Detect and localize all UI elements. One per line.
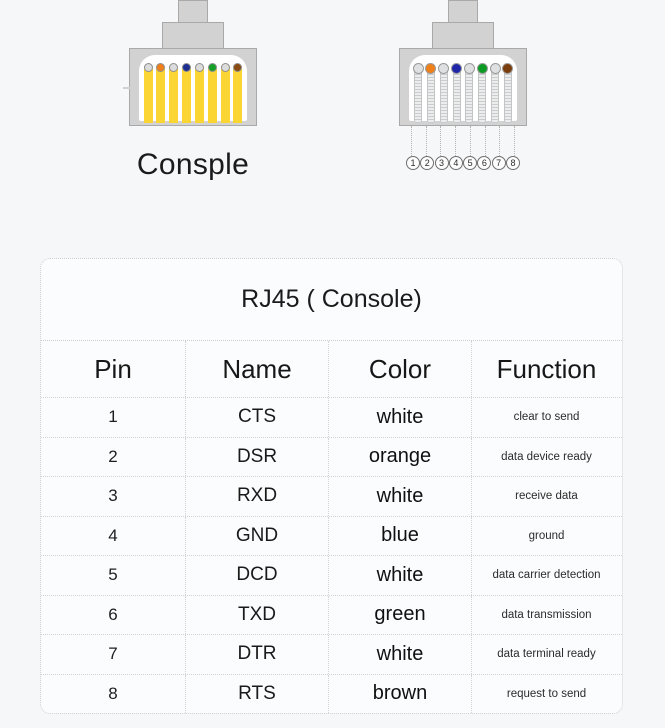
table-row: 3RXDwhitereceive data <box>41 477 622 517</box>
pin-number-badge-8: 8 <box>506 156 520 170</box>
cell-color: white <box>329 398 472 437</box>
plug-contact-pin-2 <box>426 63 436 123</box>
pin-blade <box>440 71 448 123</box>
cell-function: data terminal ready <box>472 635 621 674</box>
plug-contact-pin-4 <box>182 63 192 123</box>
column-header-pin: Pin <box>41 341 186 397</box>
pin-color-dot-blue <box>182 63 191 72</box>
rj45-pinout-table: RJ45 ( Console) Pin Name Color Function … <box>40 258 623 714</box>
connector-console-plug-gold: Consple <box>118 0 268 182</box>
cell-pin: 6 <box>41 596 186 635</box>
pin-color-dot-white <box>221 63 230 72</box>
pin-leader-line-4 <box>455 126 456 156</box>
plug-contact-pin-5 <box>194 63 204 123</box>
table-row: 5DCDwhitedata carrier detection <box>41 556 622 596</box>
cell-color: blue <box>329 517 472 556</box>
plug-contact-pin-8 <box>233 63 243 123</box>
plug-contact-pin-4 <box>452 63 462 123</box>
cell-color: white <box>329 635 472 674</box>
cell-function: ground <box>472 517 621 556</box>
pin-blade <box>169 69 178 123</box>
table-row: 2DSRorangedata device ready <box>41 438 622 478</box>
pin-blade <box>465 71 473 123</box>
cell-name: DSR <box>186 438 329 477</box>
cell-name: RTS <box>186 675 329 714</box>
table-body: 1CTSwhiteclear to send2DSRorangedata dev… <box>41 398 622 713</box>
plug-contacts-row <box>143 63 243 123</box>
pin-blade <box>182 69 191 123</box>
cell-name: GND <box>186 517 329 556</box>
plug-side-stub-icon <box>123 87 132 89</box>
plug-body <box>399 48 527 126</box>
plug-contact-pin-7 <box>220 63 230 123</box>
table-row: 8RTSbrownrequest to send <box>41 675 622 714</box>
plug-contact-pin-1 <box>413 63 423 123</box>
cell-name: RXD <box>186 477 329 516</box>
pin-color-dot-white <box>464 63 475 74</box>
cell-function: request to send <box>472 675 621 714</box>
plug-contact-pin-5 <box>464 63 474 123</box>
pin-number-badge-3: 3 <box>435 156 449 170</box>
connector-caption: Consple <box>118 148 268 182</box>
plug-contact-pin-6 <box>207 63 217 123</box>
pin-blade <box>156 69 165 123</box>
pin-color-dot-blue <box>451 63 462 74</box>
pin-leader-line-3 <box>440 126 441 156</box>
table-title: RJ45 ( Console) <box>41 259 622 341</box>
table-row: 4GNDblueground <box>41 517 622 557</box>
pin-number-badge-5: 5 <box>463 156 477 170</box>
cell-function: data carrier detection <box>472 556 621 595</box>
pin-blade <box>144 69 153 123</box>
pin-leader-lines <box>399 126 527 156</box>
cell-pin: 5 <box>41 556 186 595</box>
pin-number-badge-2: 2 <box>420 156 434 170</box>
cell-function: receive data <box>472 477 621 516</box>
pin-color-dot-green <box>477 63 488 74</box>
pin-blade <box>233 69 242 123</box>
table-header-row: Pin Name Color Function <box>41 341 622 398</box>
pin-blade <box>427 71 435 123</box>
pin-color-dot-white <box>490 63 501 74</box>
cell-name: CTS <box>186 398 329 437</box>
cell-pin: 4 <box>41 517 186 556</box>
plug-latch-base-icon <box>432 22 494 48</box>
pin-blade <box>453 71 461 123</box>
plug-contact-pin-1 <box>143 63 153 123</box>
cell-color: orange <box>329 438 472 477</box>
pin-blade <box>195 69 204 123</box>
cell-name: TXD <box>186 596 329 635</box>
plug-latch-tab-icon <box>178 0 208 22</box>
pin-color-dot-white <box>144 63 153 72</box>
plug-latch-base-icon <box>162 22 224 48</box>
cell-color: green <box>329 596 472 635</box>
pin-number-badge-6: 6 <box>477 156 491 170</box>
connector-illustrations: Consple 12345678 <box>0 0 665 235</box>
table-row: 6TXDgreendata transmission <box>41 596 622 636</box>
cell-pin: 7 <box>41 635 186 674</box>
pin-color-dot-green <box>208 63 217 72</box>
pin-leader-line-7 <box>499 126 500 156</box>
table-row: 7DTRwhitedata terminal ready <box>41 635 622 675</box>
cell-name: DTR <box>186 635 329 674</box>
pin-blade <box>414 71 422 123</box>
plug-latch-tab-icon <box>448 0 478 22</box>
pin-leader-line-2 <box>426 126 427 156</box>
cell-pin: 2 <box>41 438 186 477</box>
cell-color: white <box>329 477 472 516</box>
pin-leader-line-1 <box>411 126 412 156</box>
cell-color: white <box>329 556 472 595</box>
connector-console-plug-numbered: 12345678 <box>388 0 538 170</box>
table-row: 1CTSwhiteclear to send <box>41 398 622 438</box>
pin-leader-line-6 <box>485 126 486 156</box>
plug-contact-pin-2 <box>156 63 166 123</box>
pin-leader-line-8 <box>514 126 515 156</box>
cell-pin: 8 <box>41 675 186 714</box>
pin-color-dot-white <box>413 63 424 74</box>
plug-contact-pin-3 <box>439 63 449 123</box>
rj45-plug-graphic <box>129 0 257 126</box>
cell-pin: 3 <box>41 477 186 516</box>
cell-pin: 1 <box>41 398 186 437</box>
pin-leader-line-5 <box>470 126 471 156</box>
column-header-name: Name <box>186 341 329 397</box>
plug-contact-pin-7 <box>490 63 500 123</box>
plug-contact-pin-8 <box>503 63 513 123</box>
pin-number-badge-7: 7 <box>492 156 506 170</box>
plug-contacts-row <box>413 63 513 123</box>
plug-contact-pin-3 <box>169 63 179 123</box>
column-header-function: Function <box>472 341 621 397</box>
pin-blade <box>478 71 486 123</box>
pin-color-dot-white <box>195 63 204 72</box>
plug-body <box>129 48 257 126</box>
plug-contact-pin-6 <box>477 63 487 123</box>
column-header-color: Color <box>329 341 472 397</box>
pin-blade <box>504 71 512 123</box>
rj45-plug-graphic <box>399 0 527 126</box>
cell-function: data device ready <box>472 438 621 477</box>
cell-function: clear to send <box>472 398 621 437</box>
pin-number-badges: 12345678 <box>399 156 527 170</box>
pin-blade <box>491 71 499 123</box>
cell-name: DCD <box>186 556 329 595</box>
pin-number-badge-1: 1 <box>406 156 420 170</box>
pin-blade <box>221 69 230 123</box>
cell-function: data transmission <box>472 596 621 635</box>
cell-color: brown <box>329 675 472 714</box>
pin-blade <box>208 69 217 123</box>
pin-number-badge-4: 4 <box>449 156 463 170</box>
